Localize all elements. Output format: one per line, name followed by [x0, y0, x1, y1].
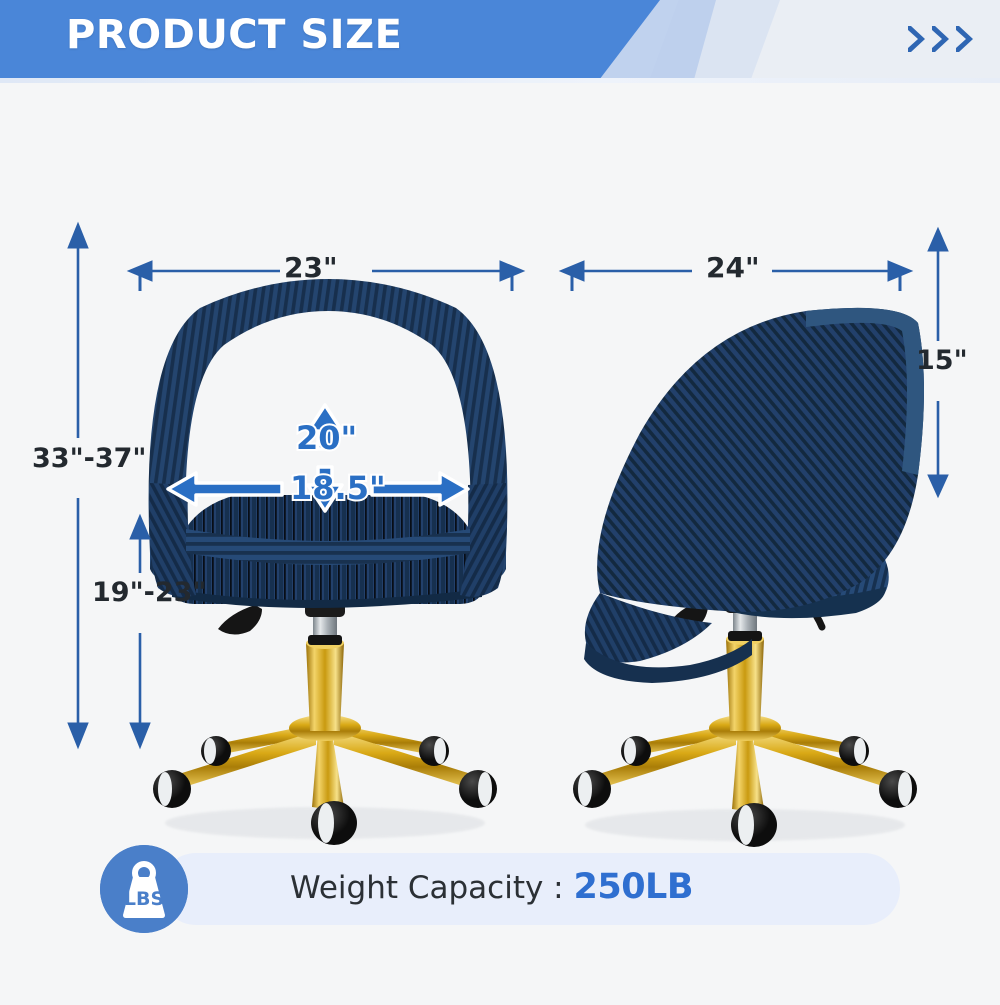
- front-view-chair: [149, 279, 508, 845]
- header-banner: PRODUCT SIZE: [0, 0, 1000, 78]
- arrow-seat-height: [130, 515, 150, 748]
- weight-capacity-label: Weight Capacity :: [290, 870, 573, 906]
- seat-height-label: 19"-23": [92, 577, 207, 608]
- front-width-label: 23": [284, 251, 338, 284]
- caster: [153, 770, 191, 808]
- seat-depth-label: 20": [296, 419, 357, 457]
- arrow-total-height: [68, 223, 88, 748]
- seat-width-label: 18.5": [290, 469, 386, 507]
- caster: [731, 803, 777, 847]
- front-chair-base: [153, 595, 497, 845]
- caster: [573, 770, 611, 808]
- caster: [839, 736, 869, 766]
- weight-capacity-text: Weight Capacity : 250LB: [290, 867, 693, 907]
- backrest-height-label: 15": [916, 345, 968, 376]
- weight-capacity-value: 250LB: [573, 867, 693, 907]
- double-chevron-right-icon: [908, 24, 978, 54]
- caster: [459, 770, 497, 808]
- weight-capacity-banner: LBS Weight Capacity : 250LB: [100, 845, 900, 933]
- lbs-icon-text: LBS: [124, 888, 164, 910]
- page-title: PRODUCT SIZE: [66, 12, 402, 58]
- caster: [879, 770, 917, 808]
- lbs-weight-icon: LBS: [100, 845, 188, 933]
- side-width-label: 24": [706, 251, 760, 284]
- side-view-chair: [573, 308, 924, 847]
- caster: [201, 736, 231, 766]
- caster: [621, 736, 651, 766]
- caster: [419, 736, 449, 766]
- total-height-label: 33"-37": [32, 443, 147, 474]
- caster: [311, 801, 357, 845]
